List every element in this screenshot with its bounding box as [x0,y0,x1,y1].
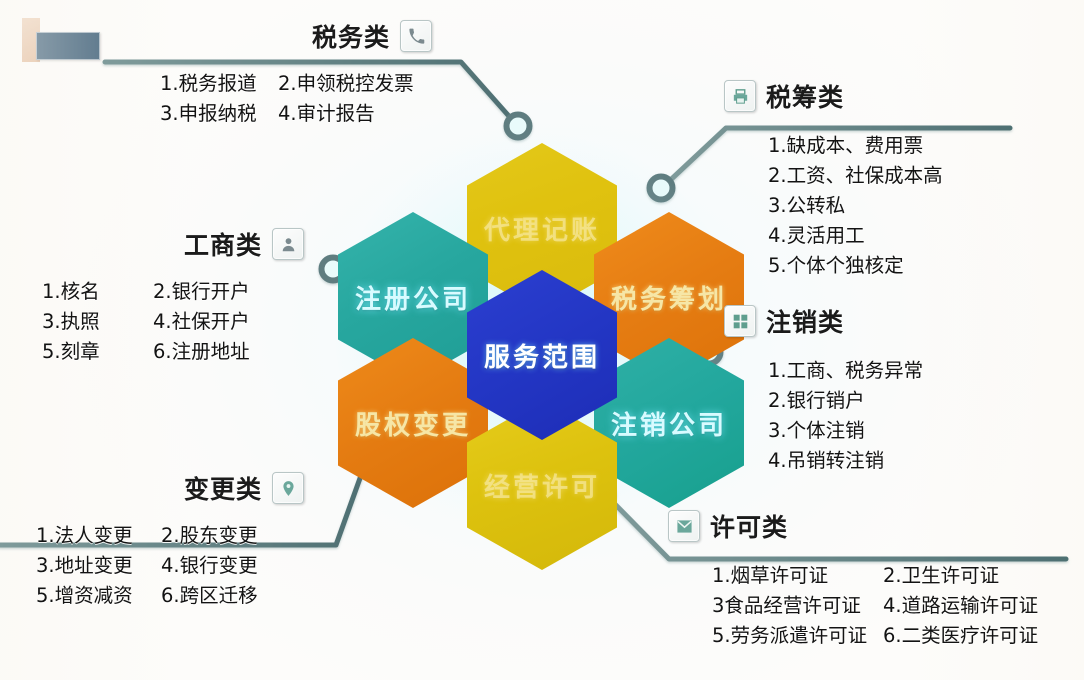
category-tax-planning-items: 1.缺成本、费用票 2.工资、社保成本高 3.公转私 4.灵活用工 5.个体个独… [724,123,1064,281]
category-tax-planning[interactable]: 税筹类 1.缺成本、费用票 2.工资、社保成本高 3.公转私 4.灵活用工 5.… [724,78,1064,281]
category-business[interactable]: 工商类 1.核名 2.银行开户 3.执照 4.社保开户 5.刻章 6.注册地址 [20,226,320,367]
list-item: 5.刻章 [42,337,153,367]
list-item: 3食品经营许可证 [712,591,883,621]
category-change-title: 变更类 [184,470,262,506]
hex-tax-planning-label: 税务筹划 [611,279,727,316]
list-item: 4.灵活用工 [768,221,1064,251]
list-item: 2.银行开户 [153,277,250,307]
phone-icon [400,20,432,52]
person-icon [272,228,304,260]
infographic-canvas: 代理记账 注册公司 税务筹划 服务范围 股权变更 注销公司 经营许可 税务类 [0,0,1084,680]
category-cancellation[interactable]: 注销类 1.工商、税务异常 2.银行销户 3.个体注销 4.吊销转注销 [724,303,1064,476]
list-item: 4.社保开户 [153,307,250,337]
category-tax[interactable]: 税务类 1.税务报道 2.申领税控发票 3.申报纳税 4.审计报告 [140,18,560,129]
list-item: 2.申领税控发票 [278,69,414,99]
grid-icon [724,305,756,337]
category-tax-items: 1.税务报道 2.申领税控发票 3.申报纳税 4.审计报告 [140,63,560,129]
category-cancellation-items: 1.工商、税务异常 2.银行销户 3.个体注销 4.吊销转注销 [724,348,1064,476]
hex-business-permit-label: 经营许可 [484,467,600,504]
list-item: 1.法人变更 [36,521,161,551]
list-item: 1.税务报道 [160,69,278,99]
list-item: 3.个体注销 [768,416,1064,446]
category-business-title: 工商类 [184,226,262,262]
printer-icon [724,80,756,112]
list-item: 1.烟草许可证 [712,561,883,591]
list-item: 4.道路运输许可证 [883,591,1038,621]
envelope-icon [668,510,700,542]
list-item: 5.个体个独核定 [768,251,1064,281]
list-row: 5.劳务派遣许可证 6.二类医疗许可证 [712,621,1080,651]
list-item: 4.审计报告 [278,99,375,129]
list-item: 3.公转私 [768,191,1064,221]
category-license-items: 1.烟草许可证 2.卫生许可证 3食品经营许可证 4.道路运输许可证 5.劳务派… [668,553,1080,651]
category-tax-title: 税务类 [312,18,390,54]
category-license-title: 许可类 [710,508,788,544]
category-tax-planning-title: 税筹类 [766,78,844,114]
list-item: 1.核名 [42,277,153,307]
list-item: 3.执照 [42,307,153,337]
list-row: 3.申报纳税 4.审计报告 [160,99,560,129]
list-item: 5.增资减资 [36,581,161,611]
category-change[interactable]: 变更类 1.法人变更 2.股东变更 3.地址变更 4.银行变更 5.增资减资 6… [18,470,318,611]
list-row: 1.税务报道 2.申领税控发票 [160,69,560,99]
list-item: 2.银行销户 [768,386,1064,416]
list-row: 3食品经营许可证 4.道路运输许可证 [712,591,1080,621]
list-item: 6.注册地址 [153,337,250,367]
hex-equity-change-label: 股权变更 [355,405,471,442]
list-item: 4.吊销转注销 [768,446,1064,476]
hex-center-label: 服务范围 [484,337,600,374]
category-license[interactable]: 许可类 1.烟草许可证 2.卫生许可证 3食品经营许可证 4.道路运输许可证 5… [668,508,1080,651]
category-business-items: 1.核名 2.银行开户 3.执照 4.社保开户 5.刻章 6.注册地址 [20,271,320,367]
list-item: 6.二类医疗许可证 [883,621,1038,651]
list-row: 1.法人变更 2.股东变更 [36,521,318,551]
list-item: 1.工商、税务异常 [768,356,1064,386]
hex-bookkeeping-label: 代理记账 [484,210,600,247]
list-row: 5.增资减资 6.跨区迁移 [36,581,318,611]
hex-deregister-label: 注销公司 [611,405,727,442]
list-row: 1.烟草许可证 2.卫生许可证 [712,561,1080,591]
category-change-items: 1.法人变更 2.股东变更 3.地址变更 4.银行变更 5.增资减资 6.跨区迁… [18,515,318,611]
category-cancellation-title: 注销类 [766,303,844,339]
list-item: 2.卫生许可证 [883,561,999,591]
list-item: 4.银行变更 [161,551,258,581]
list-item: 2.股东变更 [161,521,258,551]
list-item: 3.申报纳税 [160,99,278,129]
location-pin-icon [272,472,304,504]
list-row: 5.刻章 6.注册地址 [42,337,320,367]
list-item: 5.劳务派遣许可证 [712,621,883,651]
list-row: 3.执照 4.社保开户 [42,307,320,337]
list-item: 1.缺成本、费用票 [768,131,1064,161]
list-row: 3.地址变更 4.银行变更 [36,551,318,581]
list-row: 1.核名 2.银行开户 [42,277,320,307]
list-item: 6.跨区迁移 [161,581,258,611]
list-item: 3.地址变更 [36,551,161,581]
list-item: 2.工资、社保成本高 [768,161,1064,191]
hex-register-label: 注册公司 [355,279,471,316]
